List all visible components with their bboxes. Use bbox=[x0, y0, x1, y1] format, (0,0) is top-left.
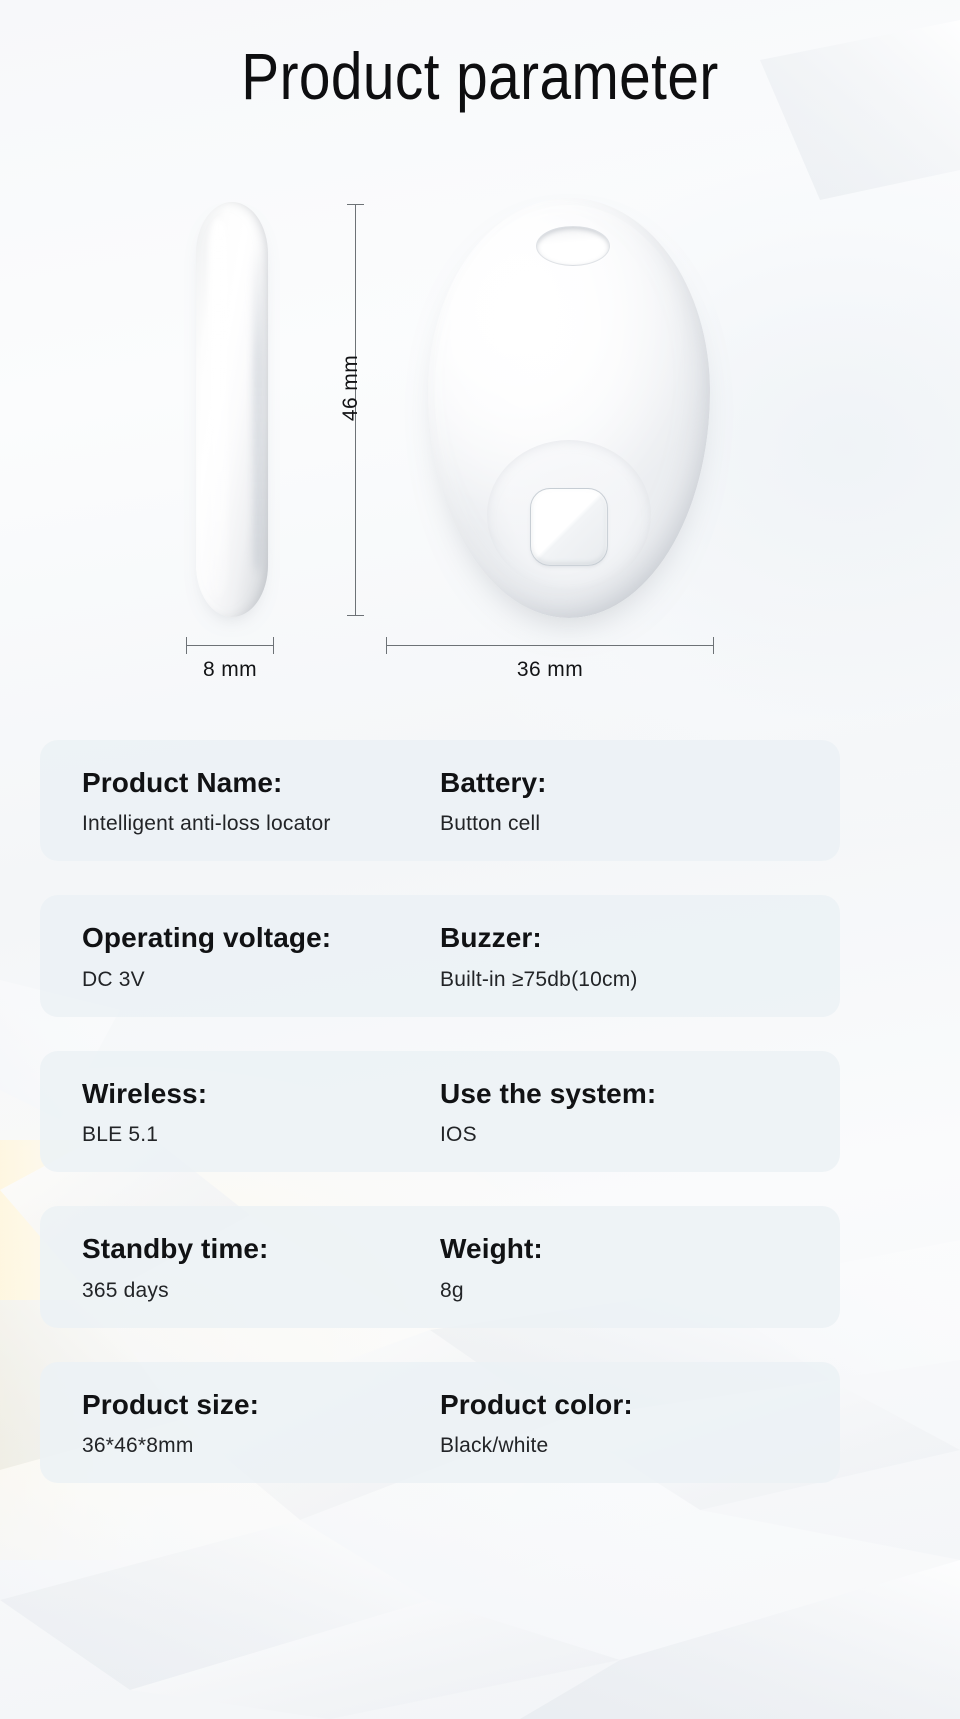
spec-cell: Product size: 36*46*8mm bbox=[82, 1388, 440, 1459]
spec-value: Built-in ≥75db(10cm) bbox=[440, 966, 798, 993]
spec-label: Wireless: bbox=[82, 1077, 440, 1111]
spec-label: Product Name: bbox=[82, 766, 440, 800]
spec-value: Button cell bbox=[440, 810, 798, 837]
device-button bbox=[530, 488, 608, 566]
spec-cell: Battery: Button cell bbox=[440, 766, 798, 837]
thickness-dimension-label: 8 mm bbox=[186, 658, 274, 682]
spec-cell: Product color: Black/white bbox=[440, 1388, 798, 1459]
spec-label: Operating voltage: bbox=[82, 921, 440, 955]
spec-value: Black/white bbox=[440, 1432, 798, 1459]
thickness-dimension-line bbox=[186, 645, 274, 646]
spec-label: Use the system: bbox=[440, 1077, 798, 1111]
product-illustration: 46 mm 8 mm 36 mm bbox=[0, 180, 960, 710]
spec-cell: Product Name: Intelligent anti-loss loca… bbox=[82, 766, 440, 837]
spec-label: Product size: bbox=[82, 1388, 440, 1422]
spec-row: Standby time: 365 days Weight: 8g bbox=[40, 1206, 840, 1327]
spec-cell: Weight: 8g bbox=[440, 1232, 798, 1303]
page-title: Product parameter bbox=[67, 42, 893, 111]
spec-cell: Standby time: 365 days bbox=[82, 1232, 440, 1303]
spec-value: BLE 5.1 bbox=[82, 1121, 440, 1148]
spec-label: Buzzer: bbox=[440, 921, 798, 955]
spec-value: Intelligent anti-loss locator bbox=[82, 810, 440, 837]
width-dimension-label: 36 mm bbox=[386, 658, 714, 682]
spec-cell: Wireless: BLE 5.1 bbox=[82, 1077, 440, 1148]
spec-row: Operating voltage: DC 3V Buzzer: Built-i… bbox=[40, 895, 840, 1016]
spec-value: IOS bbox=[440, 1121, 798, 1148]
spec-cell: Operating voltage: DC 3V bbox=[82, 921, 440, 992]
spec-value: 36*46*8mm bbox=[82, 1432, 440, 1459]
spec-label: Product color: bbox=[440, 1388, 798, 1422]
spec-value: 8g bbox=[440, 1277, 798, 1304]
device-front-view bbox=[428, 198, 710, 618]
spec-label: Standby time: bbox=[82, 1232, 440, 1266]
spec-value: DC 3V bbox=[82, 966, 440, 993]
width-dimension-line bbox=[386, 645, 714, 646]
keyring-slot bbox=[536, 226, 610, 266]
spec-cell: Buzzer: Built-in ≥75db(10cm) bbox=[440, 921, 798, 992]
spec-label: Weight: bbox=[440, 1232, 798, 1266]
spec-row: Product size: 36*46*8mm Product color: B… bbox=[40, 1362, 840, 1483]
height-dimension-label: 46 mm bbox=[339, 355, 363, 421]
spec-row: Product Name: Intelligent anti-loss loca… bbox=[40, 740, 840, 861]
spec-list: Product Name: Intelligent anti-loss loca… bbox=[40, 740, 840, 1517]
spec-row: Wireless: BLE 5.1 Use the system: IOS bbox=[40, 1051, 840, 1172]
spec-label: Battery: bbox=[440, 766, 798, 800]
device-side-view bbox=[196, 202, 268, 617]
spec-value: 365 days bbox=[82, 1277, 440, 1304]
spec-cell: Use the system: IOS bbox=[440, 1077, 798, 1148]
product-parameter-page: Product parameter 46 mm 8 mm 36 mm Produ… bbox=[0, 0, 960, 1719]
